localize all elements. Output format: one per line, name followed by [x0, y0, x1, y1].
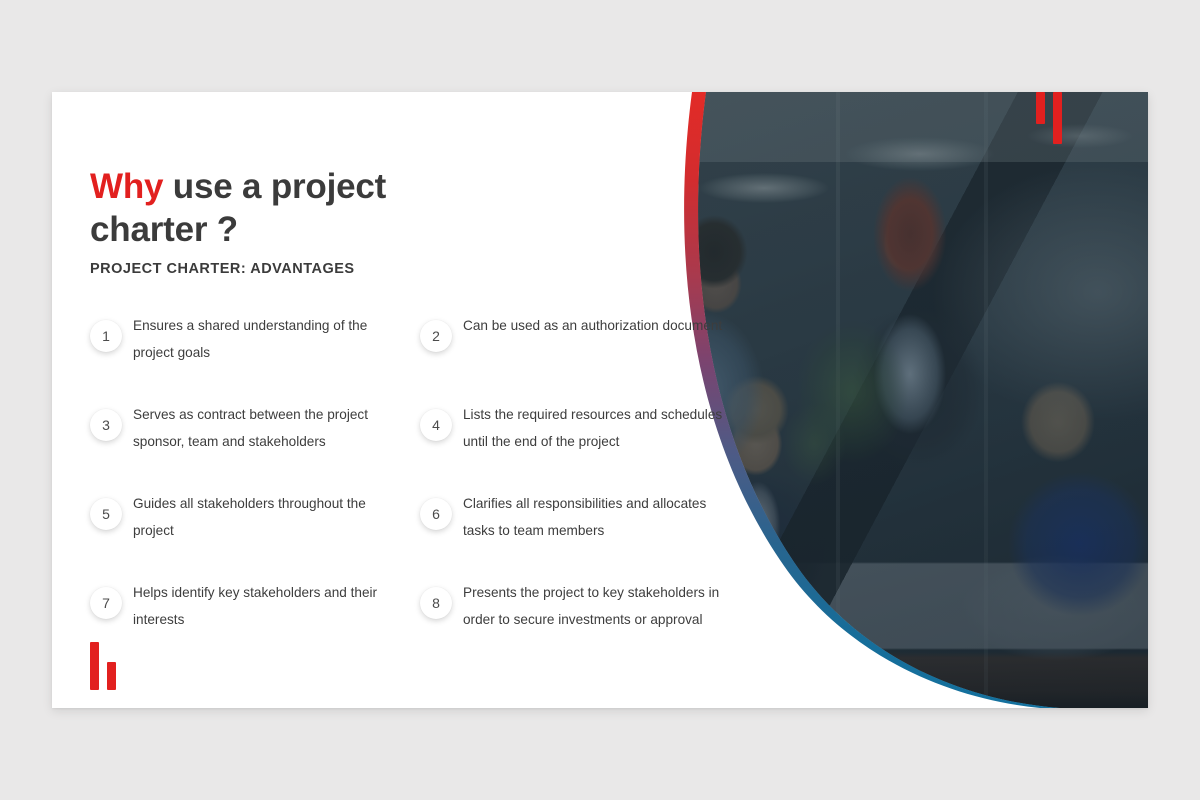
list-item: 5 Guides all stakeholders throughout the…: [90, 491, 420, 544]
item-number-badge: 6: [420, 498, 452, 530]
list-item: 8 Presents the project to key stakeholde…: [420, 580, 750, 633]
item-text: Helps identify key stakeholders and thei…: [133, 580, 401, 633]
item-text: Clarifies all responsibilities and alloc…: [463, 491, 731, 544]
list-item: 1 Ensures a shared understanding of the …: [90, 313, 420, 366]
item-text: Guides all stakeholders throughout the p…: [133, 491, 401, 544]
item-text: Can be used as an authorization document: [463, 313, 722, 340]
bottom-left-bars-decoration: [90, 642, 116, 690]
item-text: Lists the required resources and schedul…: [463, 402, 731, 455]
item-number-badge: 5: [90, 498, 122, 530]
item-number-badge: 3: [90, 409, 122, 441]
item-number-badge: 7: [90, 587, 122, 619]
item-text: Serves as contract between the project s…: [133, 402, 401, 455]
item-number-badge: 2: [420, 320, 452, 352]
item-number-badge: 8: [420, 587, 452, 619]
item-number-badge: 4: [420, 409, 452, 441]
page-subtitle: PROJECT CHARTER: ADVANTAGES: [90, 261, 710, 277]
list-item: 3 Serves as contract between the project…: [90, 402, 420, 455]
list-item: 4 Lists the required resources and sched…: [420, 402, 750, 455]
bar-tall-icon: [90, 642, 99, 690]
page-title: Why use a project charter ?: [90, 92, 420, 251]
item-text: Presents the project to key stakeholders…: [463, 580, 731, 633]
slide-canvas: Why use a project charter ? PROJECT CHAR…: [0, 0, 1200, 800]
title-highlight: Why: [90, 167, 163, 206]
advantages-list: 1 Ensures a shared understanding of the …: [90, 313, 710, 633]
slide-content: Why use a project charter ? PROJECT CHAR…: [90, 92, 710, 633]
bar-short-icon: [107, 662, 116, 690]
top-right-bars-decoration: [1036, 92, 1062, 144]
list-item: 2 Can be used as an authorization docume…: [420, 313, 750, 366]
list-item: 6 Clarifies all responsibilities and all…: [420, 491, 750, 544]
bar-short-icon: [1036, 92, 1045, 124]
item-text: Ensures a shared understanding of the pr…: [133, 313, 401, 366]
list-item: 7 Helps identify key stakeholders and th…: [90, 580, 420, 633]
bar-tall-icon: [1053, 92, 1062, 144]
presentation-slide: Why use a project charter ? PROJECT CHAR…: [52, 92, 1148, 708]
item-number-badge: 1: [90, 320, 122, 352]
